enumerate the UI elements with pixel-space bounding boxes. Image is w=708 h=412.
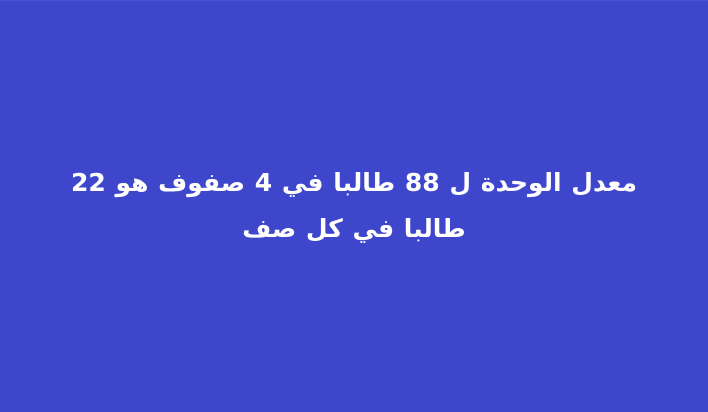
top-edge-divider — [0, 0, 708, 1]
slide-canvas: معدل الوحدة ل 88 طالبا في 4 صفوف هو 22 ط… — [0, 0, 708, 412]
statement-text: معدل الوحدة ل 88 طالبا في 4 صفوف هو 22 ط… — [44, 160, 664, 252]
statement-block: معدل الوحدة ل 88 طالبا في 4 صفوف هو 22 ط… — [44, 160, 664, 252]
